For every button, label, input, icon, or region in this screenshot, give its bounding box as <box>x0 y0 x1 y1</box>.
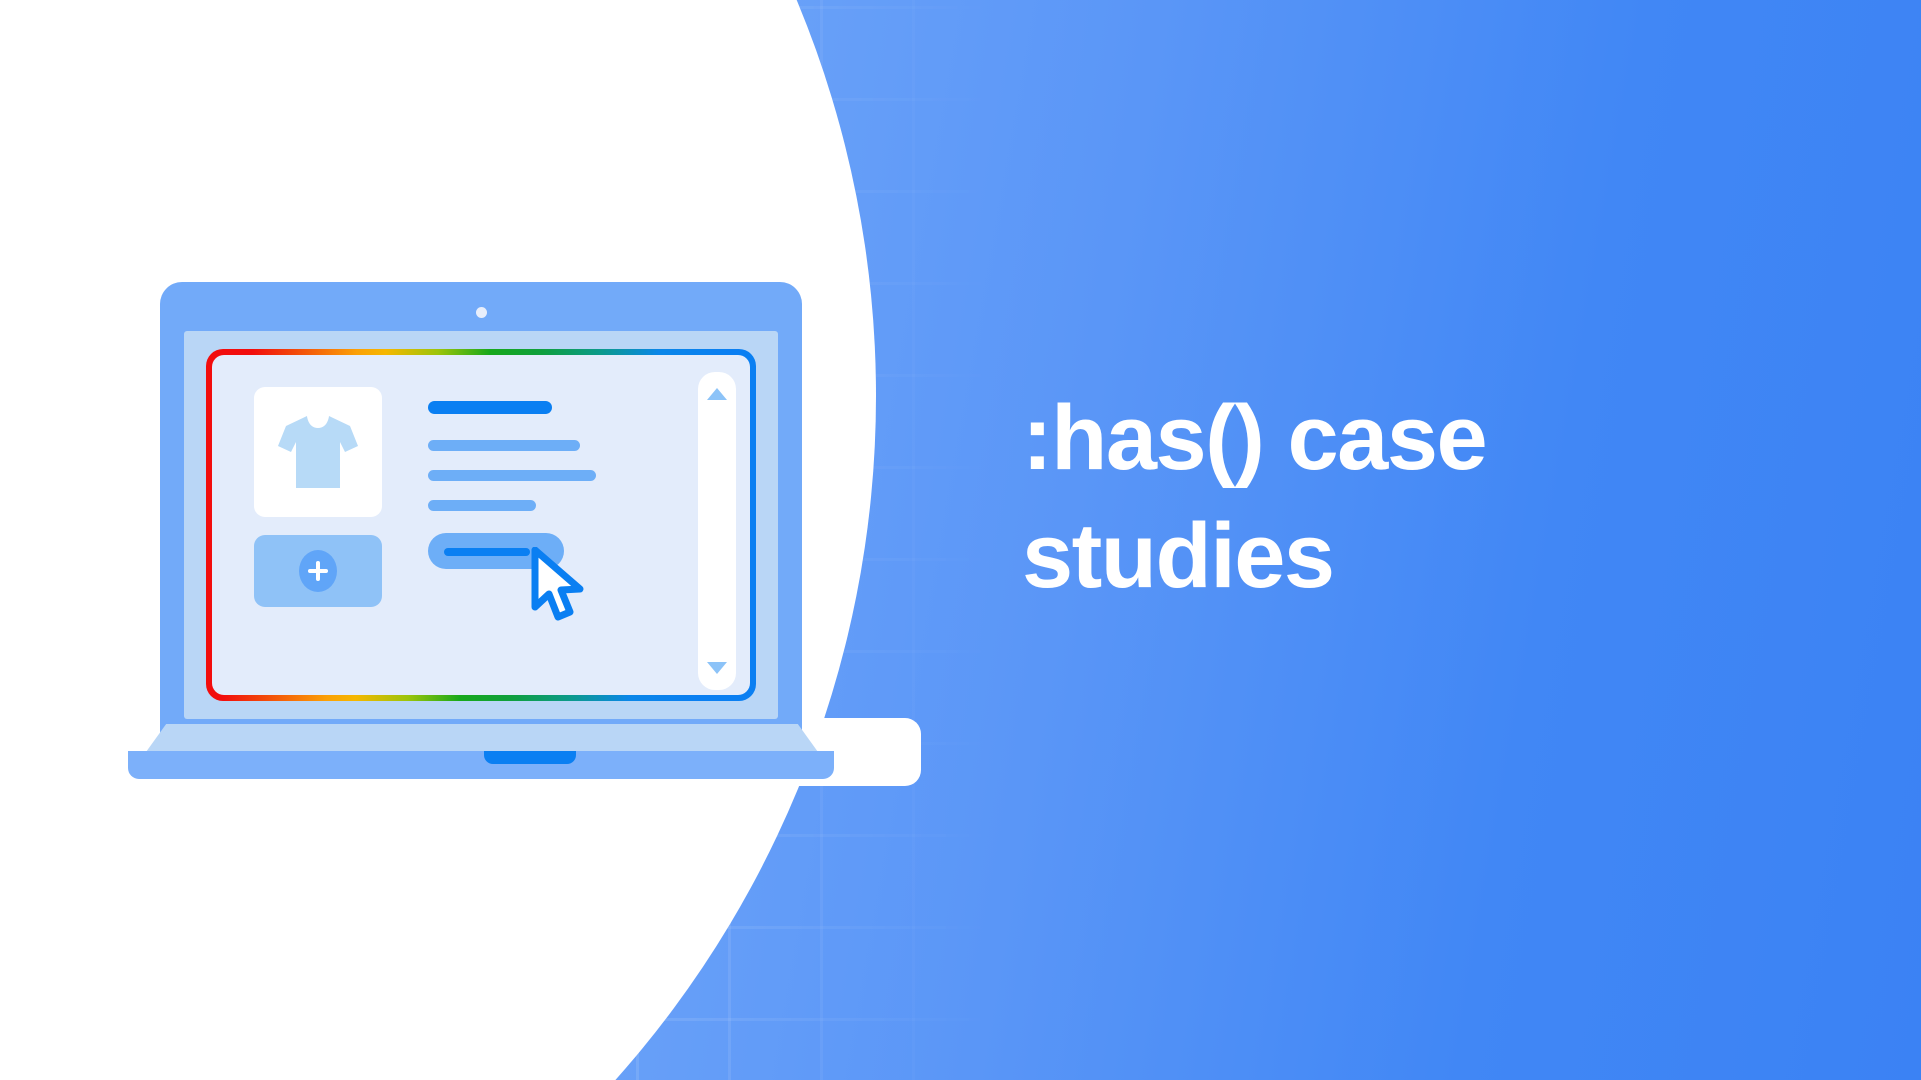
laptop-base-notch <box>484 751 576 764</box>
plus-icon <box>299 550 337 592</box>
page-title-line-2: studies <box>1022 498 1782 616</box>
scroll-up-arrow-icon[interactable] <box>707 388 727 400</box>
tshirt-icon <box>276 412 360 492</box>
title-line <box>428 401 552 414</box>
product-thumbnail-card[interactable] <box>254 387 382 517</box>
body-line-3 <box>428 500 536 511</box>
action-pill-label-bar <box>444 548 530 556</box>
body-line-1 <box>428 440 580 451</box>
text-line-group <box>428 401 658 530</box>
camera-dot-icon <box>476 307 487 318</box>
poster-canvas: :has() case studies <box>0 0 1921 1080</box>
laptop-base-front <box>128 751 834 779</box>
rainbow-focus-ring <box>206 349 756 701</box>
laptop-lid <box>160 282 802 762</box>
page-title-line-1: :has() case <box>1022 380 1782 498</box>
laptop-illustration <box>130 282 930 782</box>
laptop-screen <box>212 355 750 695</box>
scroll-down-arrow-icon[interactable] <box>707 662 727 674</box>
add-item-card[interactable] <box>254 535 382 607</box>
vertical-scrollbar[interactable] <box>698 372 736 690</box>
laptop-base-deck <box>146 724 818 752</box>
laptop-screen-bezel <box>184 331 778 719</box>
page-title: :has() case studies <box>1022 380 1782 616</box>
body-line-2 <box>428 470 596 481</box>
mouse-cursor-icon <box>530 547 592 623</box>
